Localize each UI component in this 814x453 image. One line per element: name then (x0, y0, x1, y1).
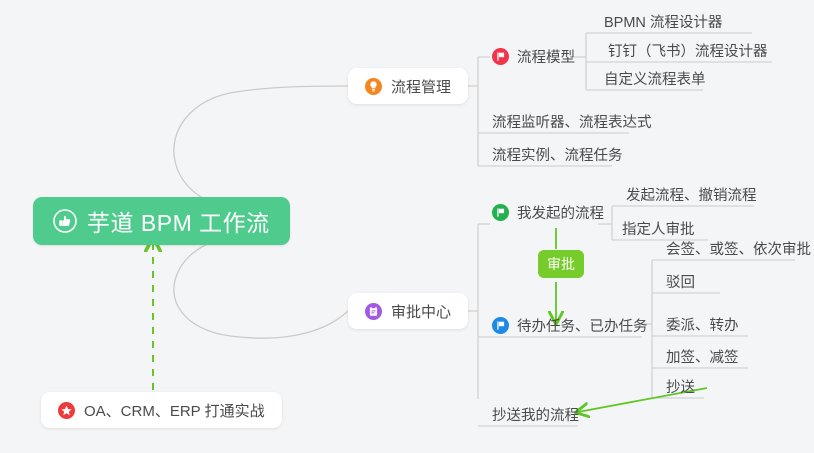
root-label: 芋道 BPM 工作流 (87, 204, 270, 238)
star-icon (58, 402, 75, 419)
node-my-initiated-process[interactable]: 我发起的流程 (492, 200, 604, 228)
flag-icon (492, 48, 509, 65)
badge-approval: 审批 (538, 250, 584, 278)
thumbs-up-icon (53, 209, 77, 233)
node-label-approval-center: 审批中心 (391, 301, 451, 322)
node-label-delegate-transfer: 委派、转办 (666, 314, 739, 335)
node-custom-process-form[interactable]: 自定义流程表单 (604, 66, 706, 94)
node-delegate-transfer[interactable]: 委派、转办 (666, 312, 739, 340)
node-start-cancel-process[interactable]: 发起流程、撤销流程 (626, 182, 757, 210)
node-add-remove-sign[interactable]: 加签、减签 (666, 344, 739, 372)
node-label-cc-to-me-process: 抄送我的流程 (492, 404, 579, 425)
node-dingtalk-feishu-designer[interactable]: 钉钉（飞书）流程设计器 (608, 38, 768, 66)
node-label-process-listener-expression: 流程监听器、流程表达式 (492, 111, 652, 132)
link-root-to-process-management (174, 86, 348, 214)
node-label-todo-done-task: 待办任务、已办任务 (517, 315, 648, 336)
node-countersign-orsign-sequential[interactable]: 会签、或签、依次审批 (666, 236, 811, 264)
lightbulb-icon (365, 78, 382, 95)
node-label-start-cancel-process: 发起流程、撤销流程 (626, 184, 757, 205)
node-process-model[interactable]: 流程模型 (492, 44, 575, 72)
node-label-dingtalk-feishu-designer: 钉钉（飞书）流程设计器 (608, 40, 768, 61)
node-label-add-remove-sign: 加签、减签 (666, 346, 739, 367)
node-process-listener-expression[interactable]: 流程监听器、流程表达式 (492, 109, 652, 137)
node-label-process-instance-task: 流程实例、流程任务 (492, 144, 623, 165)
node-approval-center[interactable]: 审批中心 (348, 293, 468, 329)
root-node[interactable]: 芋道 BPM 工作流 (33, 197, 290, 245)
clipboard-icon (365, 303, 382, 320)
node-reject[interactable]: 驳回 (666, 269, 695, 297)
node-label-oa-crm-erp: OA、CRM、ERP 打通实战 (84, 400, 265, 421)
link-pm-to-model (478, 57, 490, 62)
node-label-cc: 抄送 (666, 376, 695, 397)
node-label-process-management: 流程管理 (391, 76, 451, 97)
flag-icon (492, 204, 509, 221)
node-label-custom-process-form: 自定义流程表单 (604, 68, 706, 89)
node-label-process-model: 流程模型 (517, 46, 575, 67)
node-process-instance-task[interactable]: 流程实例、流程任务 (492, 142, 623, 170)
mindmap-canvas: 芋道 BPM 工作流 流程管理 流程模型 BPMN 流程设计器 钉钉（飞书）流程 (0, 0, 814, 453)
node-label-countersign-orsign-sequential: 会签、或签、依次审批 (666, 238, 811, 259)
node-label-bpmn-designer: BPMN 流程设计器 (604, 11, 722, 32)
flag-icon (492, 317, 509, 334)
node-label-reject: 驳回 (666, 271, 695, 292)
badge-label-approval: 审批 (547, 254, 575, 274)
node-oa-crm-erp[interactable]: OA、CRM、ERP 打通实战 (41, 392, 282, 428)
node-todo-done-task[interactable]: 待办任务、已办任务 (492, 313, 648, 341)
node-bpmn-designer[interactable]: BPMN 流程设计器 (604, 9, 722, 37)
node-cc-to-me-process[interactable]: 抄送我的流程 (492, 402, 579, 430)
link-root-to-approval-center (174, 229, 348, 338)
node-label-my-initiated-process: 我发起的流程 (517, 202, 604, 223)
node-cc[interactable]: 抄送 (666, 374, 695, 402)
node-process-management[interactable]: 流程管理 (348, 68, 468, 104)
